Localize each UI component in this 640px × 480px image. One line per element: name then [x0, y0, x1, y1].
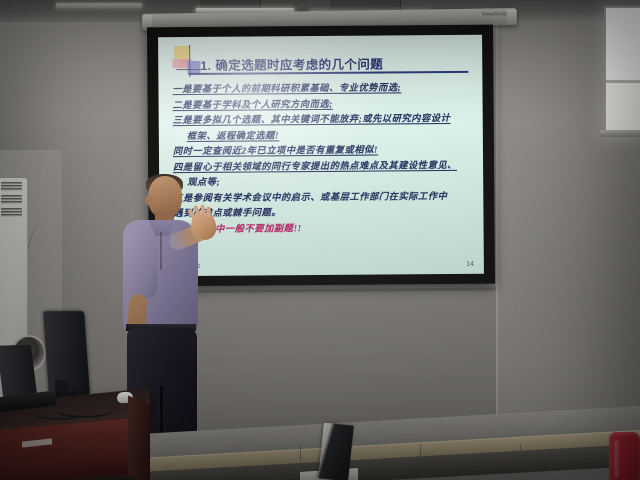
screen-brand-label: ViewSonic — [482, 11, 507, 17]
presenter-sleeve — [123, 232, 157, 298]
laptop-screen — [318, 423, 354, 480]
presenter-ear — [145, 195, 152, 205]
ac-vent-icon — [1, 208, 22, 217]
ac-vent-icon — [1, 195, 22, 204]
slide-body: 一是要基于个人的前期科研积累基础、专业优势而选; 二是要基于学科及个人研究方向而… — [172, 80, 473, 237]
wall-corner-edge — [496, 0, 498, 430]
presenter-shirt-placket — [160, 232, 162, 270]
window-mullion — [606, 80, 640, 83]
secondary-monitor — [0, 345, 37, 398]
presenter-finger — [206, 206, 211, 217]
window-glass — [606, 8, 640, 134]
deco-square-yellow-icon — [174, 46, 189, 59]
slide-note-accent: 选题中一般不要加副题!! — [174, 219, 474, 237]
classroom-photo: ViewSonic 1. 确定选题时应考虑的几个问题 一是要基于个人的前期科研积… — [0, 0, 640, 480]
presenter-finger — [200, 204, 206, 216]
slide-footer-page: 14 — [466, 261, 474, 268]
housing-endcap — [507, 9, 516, 24]
stage-seam — [300, 444, 301, 462]
window-sill — [600, 130, 640, 137]
window — [604, 6, 640, 136]
ac-vent-icon — [1, 182, 22, 191]
chair-highlight — [614, 440, 619, 478]
ceiling-light-icon — [56, 3, 142, 8]
desk-side-panel — [128, 396, 150, 480]
